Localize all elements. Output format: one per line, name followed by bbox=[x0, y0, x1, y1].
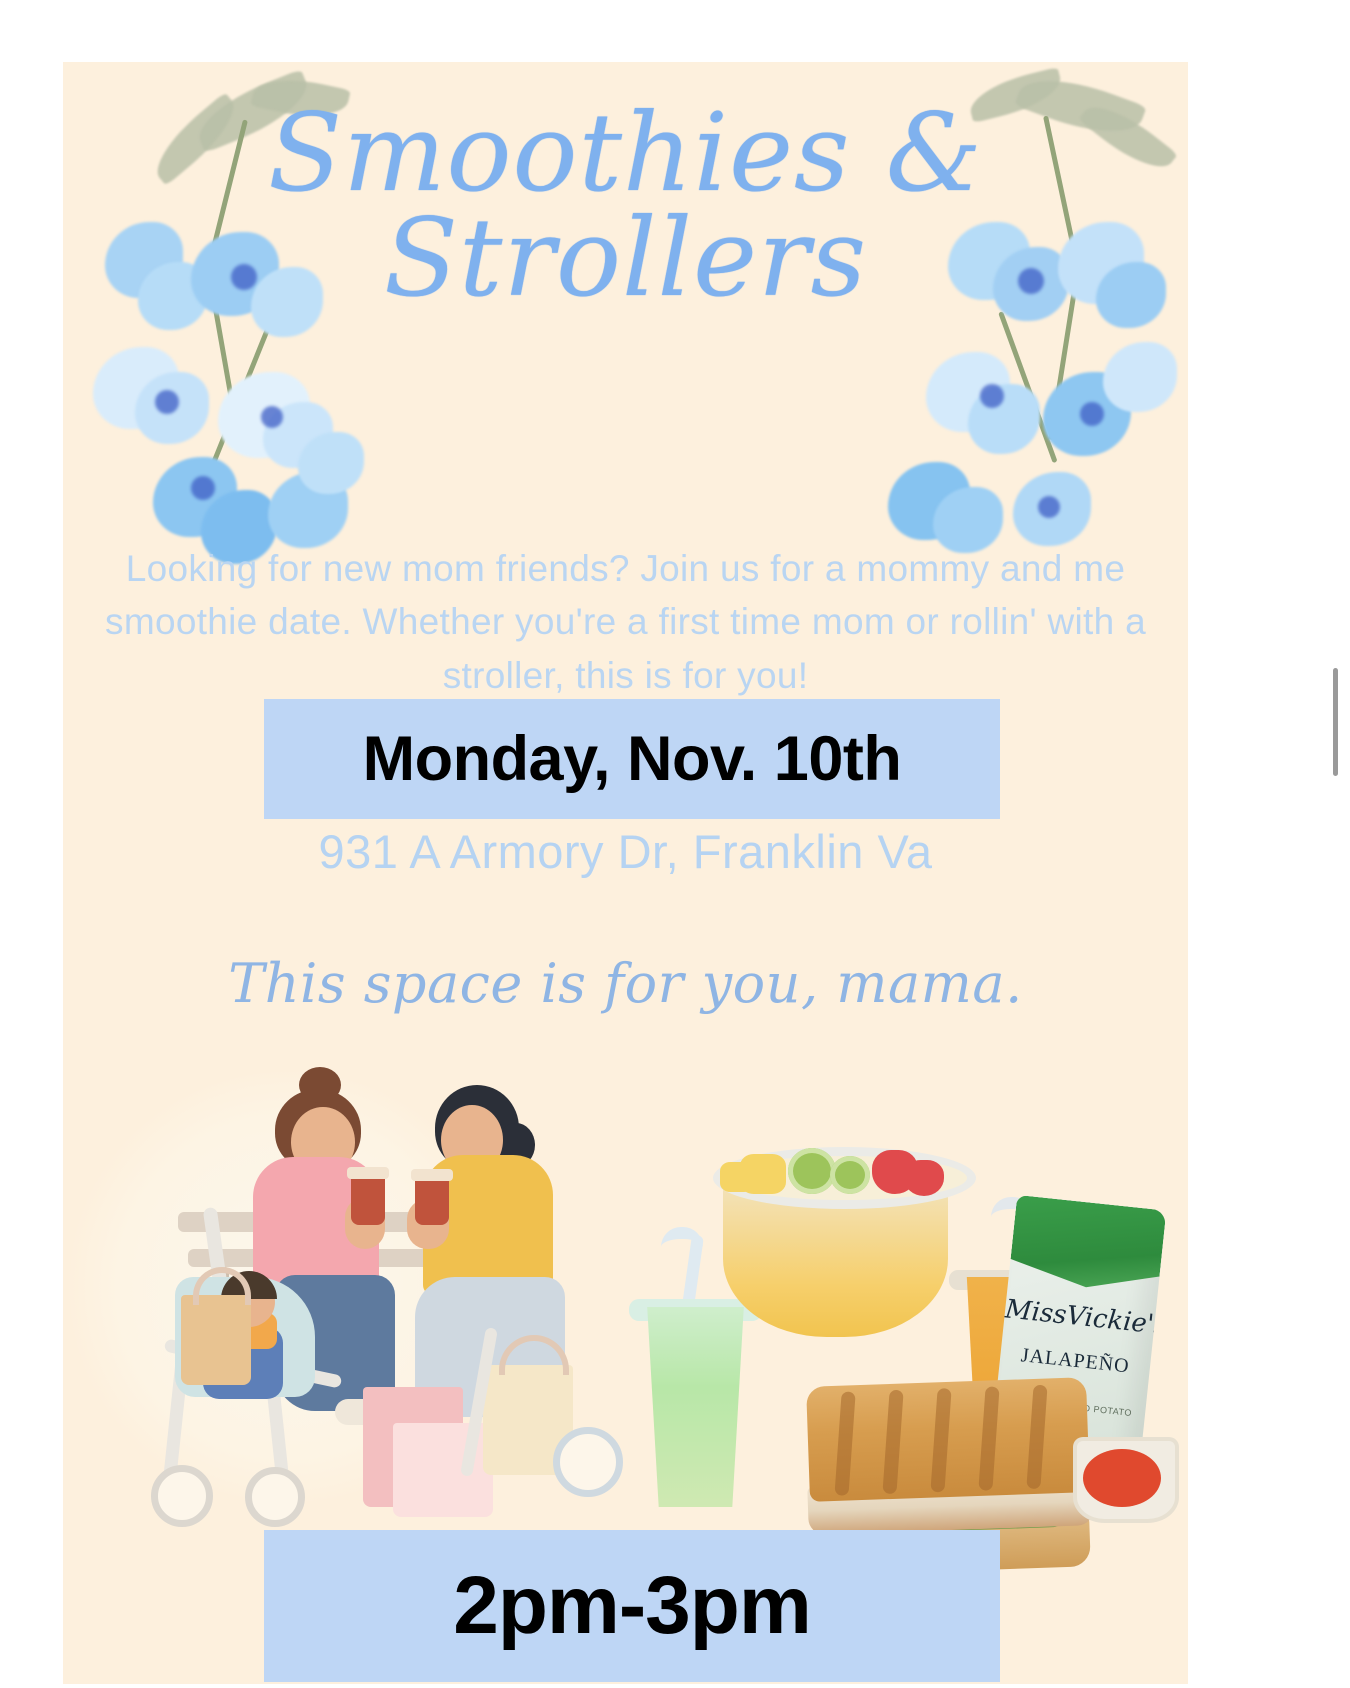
flyer-canvas: Smoothies & Strollers Looking for new mo… bbox=[63, 62, 1188, 1684]
flower-petal bbox=[93, 347, 179, 429]
flower-petal bbox=[926, 352, 1010, 432]
illustration-collage: MissVickie's JALAPEÑO KETTLE COOKED POTA… bbox=[63, 1027, 1188, 1587]
flower-center bbox=[155, 390, 179, 414]
flower-petal bbox=[1043, 372, 1131, 456]
time-badge-label: 2pm-3pm bbox=[453, 1559, 811, 1653]
flower-petal bbox=[135, 372, 209, 444]
sauce-fill bbox=[1083, 1449, 1161, 1507]
flower-center bbox=[1080, 402, 1104, 426]
flower-petal bbox=[968, 384, 1040, 454]
kiwi-slice bbox=[830, 1156, 870, 1194]
flower-petal bbox=[888, 462, 970, 540]
flower-center bbox=[191, 476, 215, 500]
fruit-bowl-rim bbox=[713, 1147, 976, 1209]
chip-bag-top-seal bbox=[1008, 1195, 1167, 1302]
chip-bag-flavor-label: JALAPEÑO bbox=[999, 1342, 1151, 1381]
grill-mark bbox=[930, 1388, 951, 1493]
flower-petal bbox=[263, 402, 333, 468]
pineapple-chunk bbox=[720, 1162, 754, 1192]
flower-center bbox=[980, 384, 1004, 408]
date-badge-label: Monday, Nov. 10th bbox=[363, 723, 902, 795]
scrollbar-thumb[interactable] bbox=[1333, 668, 1338, 776]
mom-a-bun bbox=[299, 1067, 341, 1103]
flower-petal bbox=[1103, 342, 1177, 412]
grill-mark bbox=[834, 1391, 855, 1496]
intro-paragraph: Looking for new mom friends? Join us for… bbox=[101, 542, 1150, 702]
date-badge: Monday, Nov. 10th bbox=[264, 699, 1000, 819]
flower-petal bbox=[153, 457, 237, 537]
strawberry-slice bbox=[904, 1160, 944, 1196]
grill-mark bbox=[978, 1386, 999, 1491]
sauce-cup bbox=[1073, 1437, 1179, 1523]
time-badge: 2pm-3pm bbox=[264, 1530, 1000, 1682]
chip-bag-brand-label: MissVickie's bbox=[1004, 1294, 1156, 1340]
coffee-cup-a-lid bbox=[347, 1167, 389, 1179]
stroller-2-wheel bbox=[553, 1427, 623, 1497]
flower-petal bbox=[298, 432, 364, 494]
event-address: 931 A Armory Dr, Franklin Va bbox=[63, 824, 1188, 879]
flower-petal bbox=[1013, 472, 1091, 546]
grill-mark bbox=[1026, 1385, 1047, 1490]
stem-icon bbox=[204, 321, 272, 480]
flower-center bbox=[261, 406, 283, 428]
tote-bag-tan bbox=[181, 1295, 251, 1385]
flyer-title: Smoothies & Strollers bbox=[63, 104, 1188, 309]
stroller-wheel bbox=[151, 1465, 213, 1527]
flower-petal bbox=[218, 372, 310, 458]
stem-icon bbox=[998, 311, 1057, 463]
kiwi-slice bbox=[788, 1148, 836, 1194]
flyer-tagline: This space is for you, mama. bbox=[63, 952, 1188, 1015]
coffee-cup-b-lid bbox=[411, 1169, 453, 1181]
title-line-2: Strollers bbox=[63, 209, 1188, 308]
flower-petal bbox=[268, 472, 348, 548]
flower-center bbox=[1038, 496, 1060, 518]
title-line-1: Smoothies & bbox=[63, 104, 1188, 203]
coffee-cup-b bbox=[415, 1177, 449, 1225]
stroller-wheel bbox=[245, 1467, 305, 1527]
panini-top-bread bbox=[806, 1377, 1090, 1502]
scrollbar-track[interactable] bbox=[1332, 0, 1346, 1688]
grill-mark bbox=[882, 1390, 903, 1495]
green-smoothie-cup bbox=[638, 1307, 753, 1507]
coffee-cup-a bbox=[351, 1175, 385, 1225]
